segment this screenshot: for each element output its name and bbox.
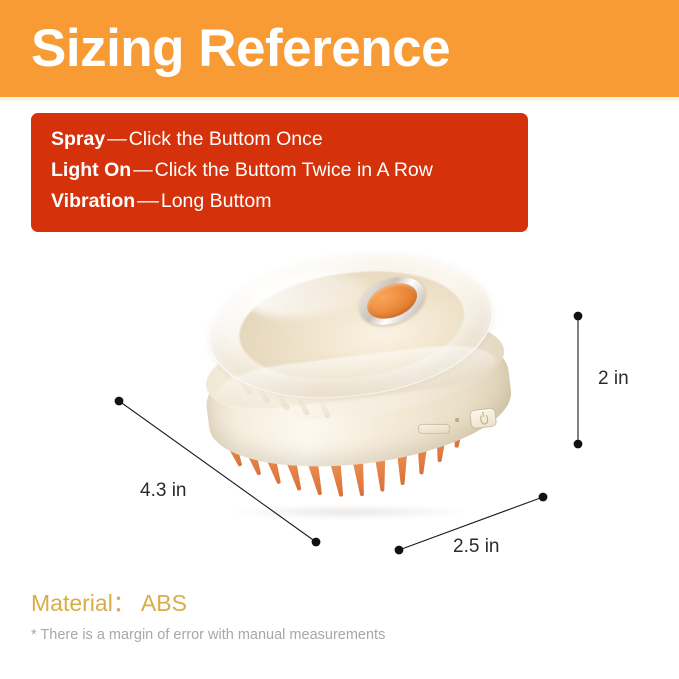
- instruction-detail: Click the Buttom Once: [129, 128, 323, 150]
- indicator-light: [455, 418, 459, 422]
- instruction-dash: ––: [135, 190, 161, 212]
- disclaimer-text: * There is a margin of error with manual…: [31, 628, 385, 643]
- water-tank-slot[interactable]: [418, 424, 450, 434]
- instruction-term: Light On: [51, 159, 131, 181]
- instruction-term: Spray: [51, 128, 105, 150]
- instruction-row: Light On—Click the Buttom Twice in A Row: [51, 161, 433, 181]
- power-icon: [480, 413, 489, 425]
- instruction-dash: —: [131, 159, 155, 181]
- instruction-row: Spray—Click the Buttom Once: [51, 130, 323, 150]
- instruction-detail: Click the Buttom Twice in A Row: [155, 159, 433, 181]
- sizing-reference-infographic: Sizing Reference Spray—Click the Buttom …: [0, 0, 679, 679]
- instruction-row: Vibration––Long Buttom: [51, 192, 271, 212]
- instruction-dash: —: [105, 128, 129, 150]
- material-text: Material： ABS: [31, 592, 187, 615]
- instruction-term: Vibration: [51, 190, 135, 212]
- page-title: Sizing Reference: [31, 14, 450, 84]
- header-underline-stripe: [0, 97, 679, 101]
- power-button[interactable]: [469, 407, 497, 429]
- instruction-panel: Spray—Click the Buttom Once Light On—Cli…: [31, 113, 528, 232]
- grooming-brush-illustration: [181, 227, 530, 524]
- product-image: [0, 232, 679, 562]
- instruction-detail: Long Buttom: [161, 190, 272, 212]
